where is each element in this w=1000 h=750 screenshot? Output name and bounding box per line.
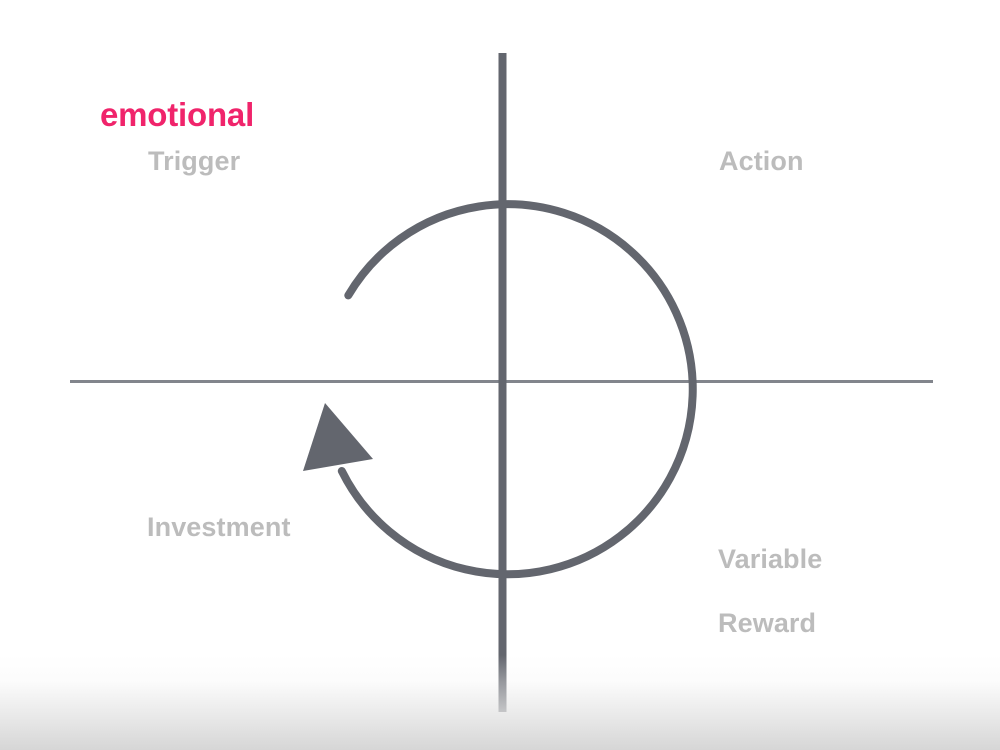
label-variable-reward: Variable Reward: [718, 512, 822, 671]
label-variable-reward-line-1: Variable: [718, 544, 822, 576]
label-emotional: emotional: [100, 96, 254, 135]
label-action: Action: [719, 146, 804, 178]
label-variable-reward-line-2: Reward: [718, 608, 822, 640]
label-trigger: Trigger: [148, 146, 240, 178]
cycle-arrowhead-icon: [303, 403, 373, 471]
cycle-arc: [342, 204, 693, 574]
slide-canvas: emotional Trigger Action Investment Vari…: [0, 0, 1000, 750]
label-investment: Investment: [147, 512, 291, 544]
